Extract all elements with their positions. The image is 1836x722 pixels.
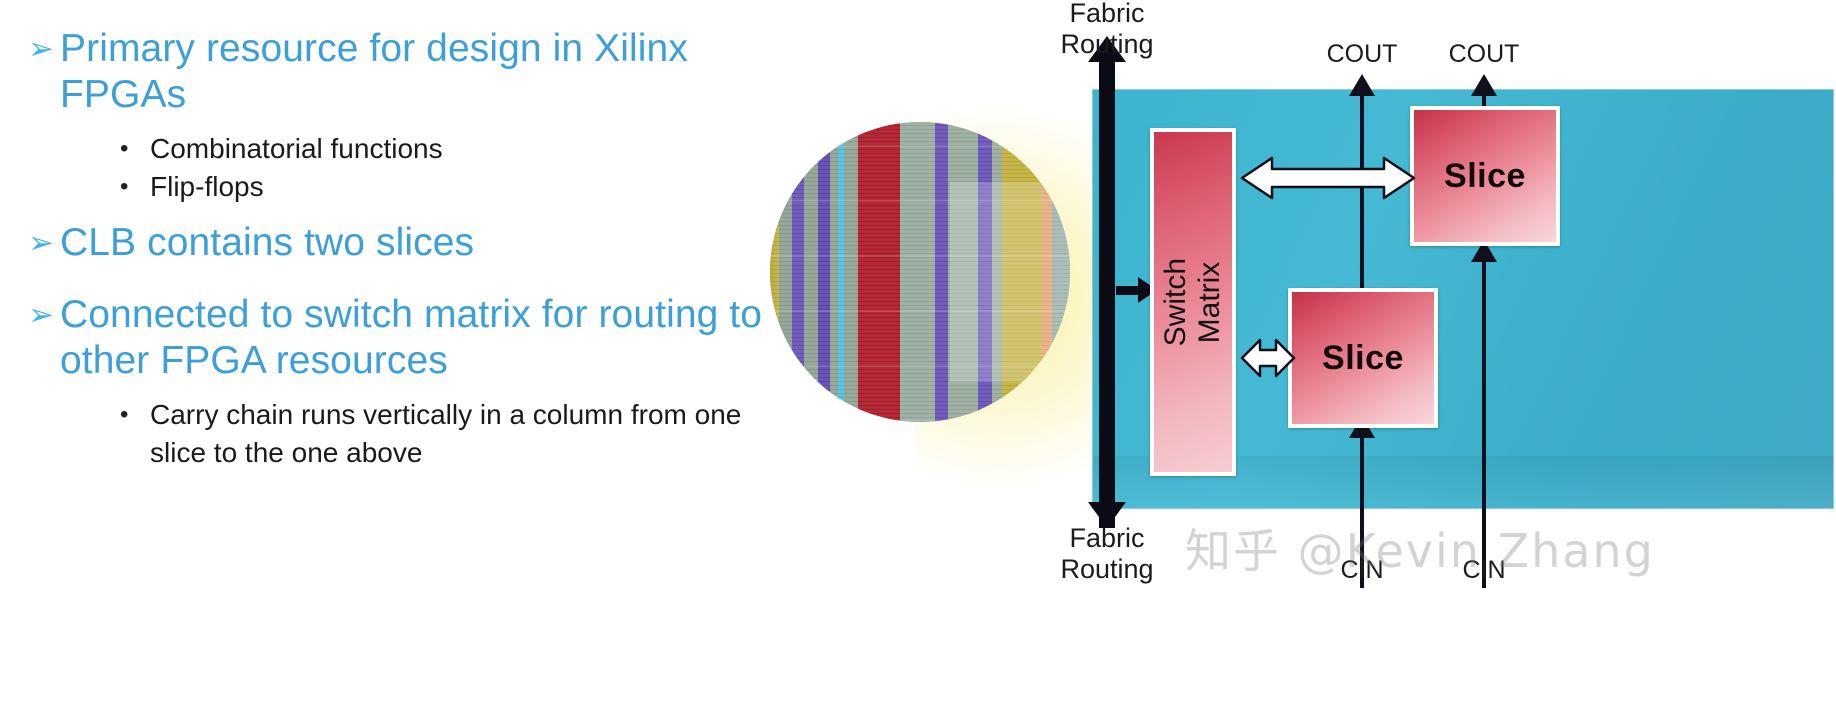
- bullet-level1: ➢ Connected to switch matrix for routing…: [28, 292, 788, 384]
- chevron-bullet-icon: ➢: [28, 220, 60, 266]
- sub-bullet-list: • Carry chain runs vertically in a colum…: [28, 396, 788, 472]
- bullet-level2: • Flip-flops: [28, 168, 788, 206]
- slice-top-box: Slice: [1410, 106, 1560, 246]
- bullet-level2-text: Flip-flops: [150, 168, 788, 206]
- sub-bullet-list: • Combinatorial functions • Flip-flops: [28, 130, 788, 206]
- fpga-die-photo: [745, 97, 1075, 487]
- bullet-level2-text: Carry chain runs vertically in a column …: [150, 396, 788, 472]
- bullet-level1-text: Primary resource for design in Xilinx FP…: [60, 26, 788, 118]
- switch-matrix-input-line: [1116, 286, 1140, 295]
- cout-right-label: COUT: [1434, 40, 1534, 69]
- chevron-bullet-icon: ➢: [28, 292, 60, 338]
- switch-matrix-box: Switch Matrix: [1150, 128, 1236, 476]
- bullet-level1: ➢ Primary resource for design in Xilinx …: [28, 26, 788, 118]
- chevron-bullet-icon: ➢: [28, 26, 60, 72]
- slice-bottom-box: Slice: [1288, 288, 1438, 428]
- bullet-level1-text: CLB contains two slices: [60, 220, 788, 266]
- bullet-level1-text: Connected to switch matrix for routing t…: [60, 292, 788, 384]
- dot-bullet-icon: •: [120, 396, 150, 434]
- cout-right-arrow-icon: [1471, 74, 1497, 96]
- slice-bottom-label: Slice: [1322, 339, 1404, 378]
- cout-left-label: COUT: [1312, 40, 1412, 69]
- slice-top-label: Slice: [1444, 157, 1526, 196]
- watermark-text: 知乎 @Kevin Zhang: [1185, 515, 1655, 581]
- dot-bullet-icon: •: [120, 130, 150, 168]
- bullet-level2-text: Combinatorial functions: [150, 130, 788, 168]
- slide-text-column: ➢ Primary resource for design in Xilinx …: [28, 26, 788, 486]
- die-photo-circle: [770, 122, 1070, 422]
- bullet-level2: • Combinatorial functions: [28, 130, 788, 168]
- fabric-routing-bar: [1099, 58, 1115, 528]
- cout-left-arrow-icon: [1349, 74, 1375, 96]
- dot-bullet-icon: •: [120, 168, 150, 206]
- switch-matrix-label: Switch Matrix: [1159, 258, 1227, 346]
- switch-matrix-to-slice-top-arrow-icon: [1240, 154, 1416, 202]
- fabric-routing-bottom-label: Fabric Routing: [1052, 523, 1162, 585]
- fabric-routing-top-label: Fabric Routing: [1052, 0, 1162, 60]
- die-highlight-region: [950, 182, 1070, 382]
- bullet-level1: ➢ CLB contains two slices: [28, 220, 788, 266]
- switch-matrix-to-slice-bottom-arrow-icon: [1240, 336, 1296, 380]
- bullet-level2: • Carry chain runs vertically in a colum…: [28, 396, 788, 472]
